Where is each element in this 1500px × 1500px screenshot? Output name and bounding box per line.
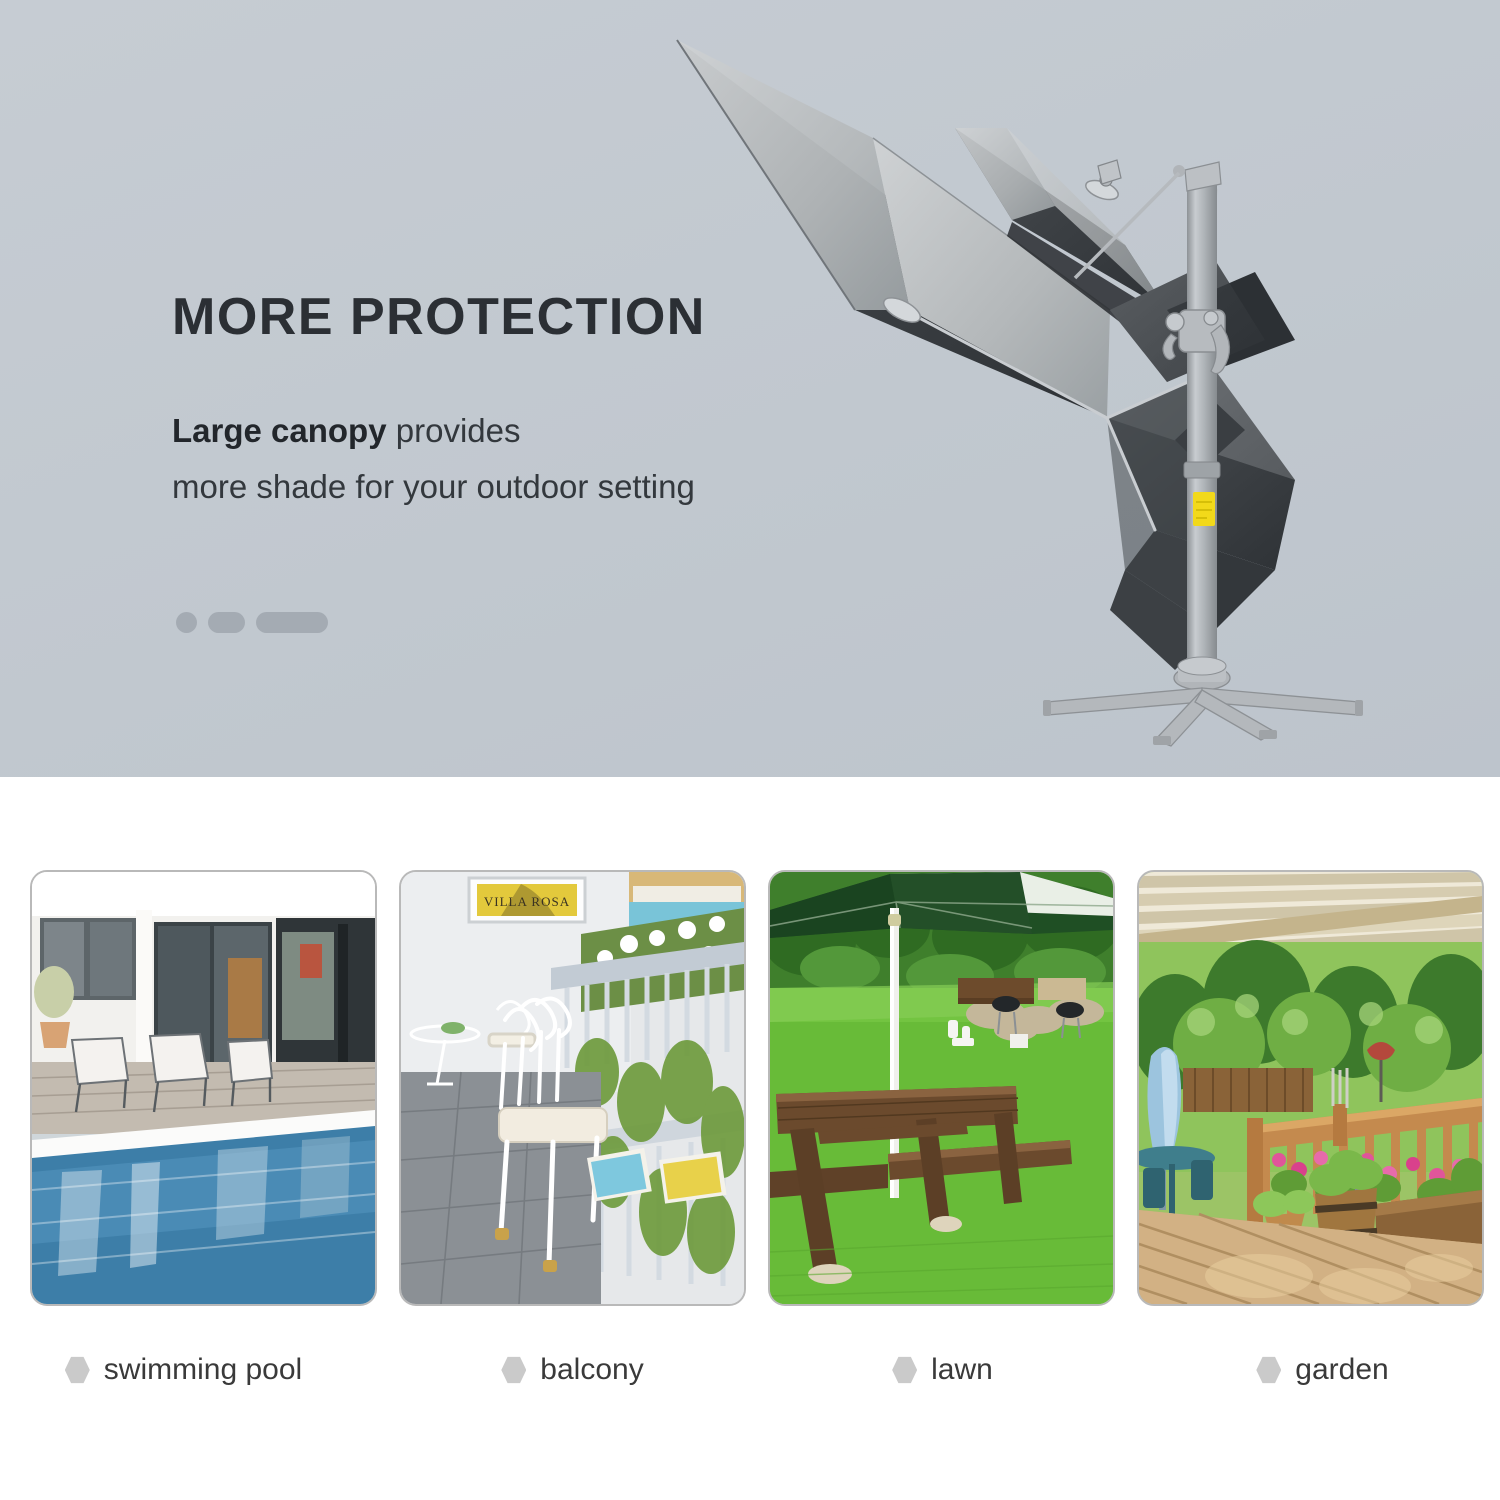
caption-garden: garden [1165,1353,1480,1387]
photo-lawn [770,872,1113,1304]
thumbnail-frame-swimming-pool[interactable] [30,870,377,1306]
photo-garden [1139,872,1482,1304]
hexagon-bullet-icon [65,1356,90,1384]
caption-balcony: balcony [403,1353,742,1387]
hexagon-bullet-icon [892,1356,917,1384]
caption-label: balcony [540,1353,643,1387]
hero-subtext-rest: provides [387,412,521,449]
caption-label: swimming pool [104,1353,302,1387]
photo-swimming-pool [32,872,375,1304]
thumbnail-frame-balcony[interactable]: VILLA ROSA [399,870,746,1306]
caption-lawn: lawn [774,1353,1111,1387]
progress-indicator [176,612,328,633]
progress-dot-3 [256,612,328,633]
progress-dot-2 [208,612,245,633]
gallery-row: swimming pool VIL [30,870,1470,1387]
svg-text:VILLA ROSA: VILLA ROSA [484,894,570,909]
gallery-item-lawn[interactable]: lawn [768,870,1111,1387]
caption-swimming-pool: swimming pool [0,1353,373,1387]
hero-panel: MORE PROTECTION Large canopy provides mo… [0,0,1500,777]
hero-subtext-bold: Large canopy [172,412,387,449]
thumbnail-frame-lawn[interactable] [768,870,1115,1306]
hexagon-bullet-icon [501,1356,526,1384]
use-case-gallery: swimming pool VIL [0,777,1500,1500]
caption-label: garden [1295,1353,1388,1387]
product-image-cantilever-umbrella [655,10,1455,770]
progress-dot-1 [176,612,197,633]
photo-balcony: VILLA ROSA [401,872,744,1304]
hexagon-bullet-icon [1256,1356,1281,1384]
gallery-item-garden[interactable]: garden [1137,870,1480,1387]
gallery-item-balcony[interactable]: VILLA ROSA [399,870,742,1387]
gallery-item-swimming-pool[interactable]: swimming pool [30,870,373,1387]
product-marketing-page: MORE PROTECTION Large canopy provides mo… [0,0,1500,1500]
caption-label: lawn [931,1353,993,1387]
thumbnail-frame-garden[interactable] [1137,870,1484,1306]
